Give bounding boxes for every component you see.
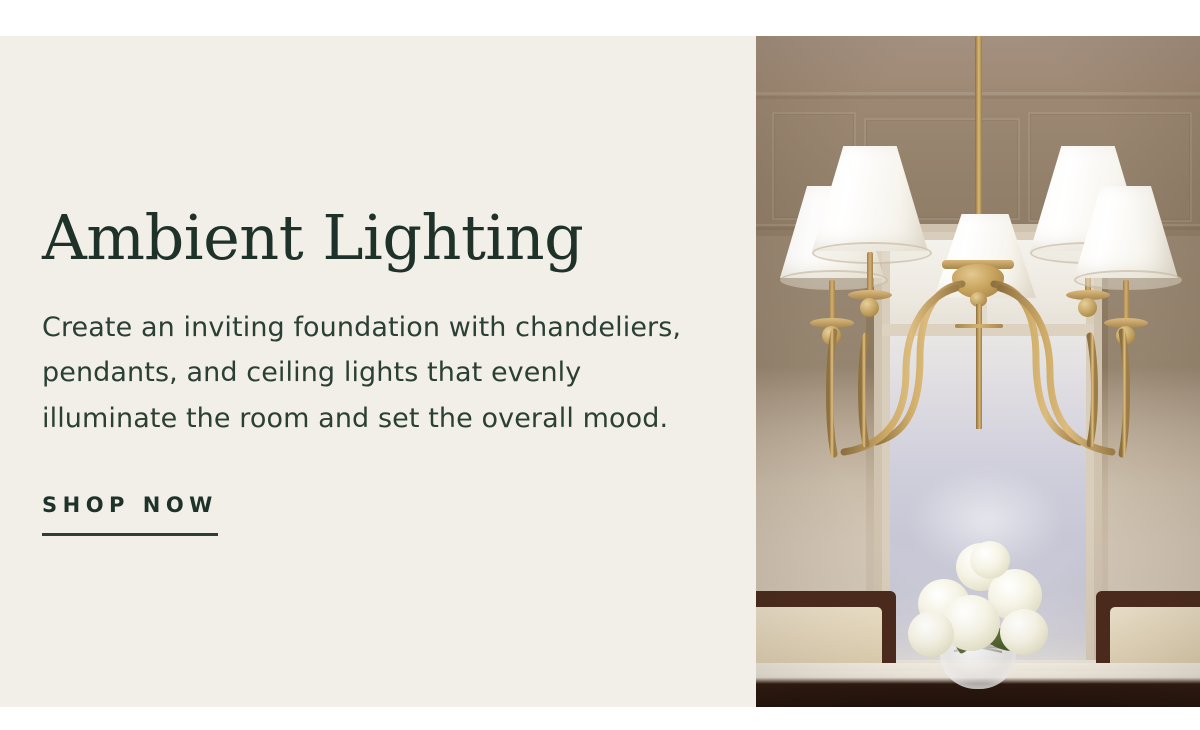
hydrangea-bloom-5 bbox=[908, 611, 954, 657]
shop-now-button[interactable]: SHOP NOW bbox=[42, 493, 218, 536]
page-title: Ambient Lighting bbox=[42, 207, 756, 269]
banner-description: Create an inviting foundation with chand… bbox=[42, 305, 712, 441]
cta-container: SHOP NOW bbox=[42, 493, 756, 536]
hydrangea-bloom-6 bbox=[1000, 609, 1048, 655]
hydrangea-bloom-7 bbox=[970, 541, 1010, 579]
banner-image bbox=[756, 36, 1200, 707]
promo-banner: Ambient Lighting Create an inviting foun… bbox=[0, 36, 1200, 707]
banner-text-panel: Ambient Lighting Create an inviting foun… bbox=[0, 36, 756, 707]
